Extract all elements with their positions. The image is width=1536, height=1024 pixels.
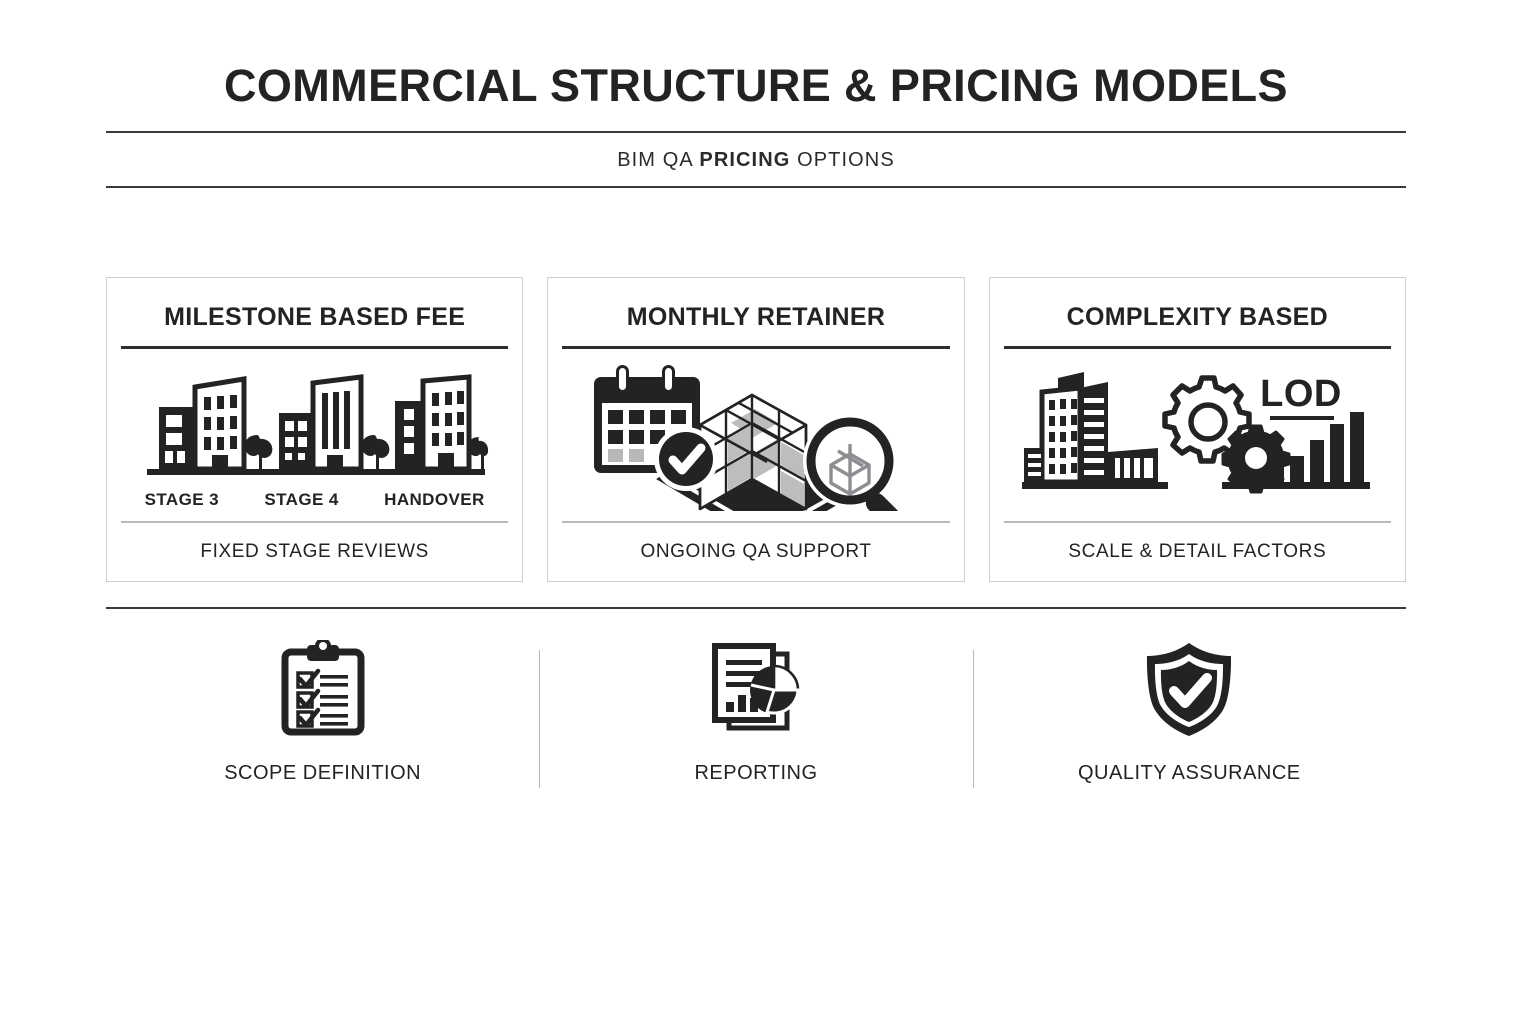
infographic-page: COMMERCIAL STRUCTURE & PRICING MODELS BI… — [0, 0, 1536, 1024]
stage-label-1: STAGE 3 — [145, 490, 219, 510]
card-illustration — [548, 349, 963, 521]
svg-text:LOD: LOD — [1260, 373, 1342, 415]
shield-check-icon — [1141, 640, 1237, 738]
stage-label-3: HANDOVER — [384, 490, 485, 510]
card-footer-label: FIXED STAGE REVIEWS — [107, 523, 522, 581]
feature-label: QUALITY ASSURANCE — [1078, 762, 1301, 785]
card-monthly-retainer[interactable]: MONTHLY RETAINER — [547, 277, 964, 582]
page-title: COMMERCIAL STRUCTURE & PRICING MODELS — [106, 62, 1406, 131]
card-illustration: LOD — [990, 349, 1405, 521]
pricing-model-cards: MILESTONE BASED FEE — [106, 277, 1406, 582]
card-title: COMPLEXITY BASED — [990, 278, 1405, 346]
card-title: MONTHLY RETAINER — [548, 278, 963, 346]
skyline-buildings-icon — [141, 363, 489, 481]
section-divider-rule — [106, 607, 1406, 609]
feature-scope-definition[interactable]: SCOPE DEFINITION — [106, 640, 539, 800]
subtitle-pre: BIM QA — [617, 149, 699, 171]
card-footer-label: ONGOING QA SUPPORT — [548, 523, 963, 581]
stage-labels: STAGE 3 STAGE 4 HANDOVER — [145, 490, 485, 510]
feature-label: REPORTING — [694, 762, 817, 785]
stage-label-2: STAGE 4 — [264, 490, 338, 510]
report-documents-chart-icon — [707, 640, 805, 738]
card-footer-label: SCALE & DETAIL FACTORS — [990, 523, 1405, 581]
card-illustration: STAGE 3 STAGE 4 HANDOVER — [107, 349, 522, 521]
subtitle-post: OPTIONS — [790, 149, 894, 171]
calendar-check-bim-model-magnifier-icon — [582, 361, 930, 511]
card-milestone-based-fee[interactable]: MILESTONE BASED FEE — [106, 277, 523, 582]
feature-quality-assurance[interactable]: QUALITY ASSURANCE — [973, 640, 1406, 800]
card-title: MILESTONE BASED FEE — [107, 278, 522, 346]
feature-label: SCOPE DEFINITION — [224, 762, 421, 785]
clipboard-checklist-icon — [277, 640, 369, 738]
card-complexity-based[interactable]: COMPLEXITY BASED — [989, 277, 1406, 582]
header: COMMERCIAL STRUCTURE & PRICING MODELS BI… — [106, 62, 1406, 188]
subtitle-bold: PRICING — [699, 149, 790, 171]
feature-row: SCOPE DEFINITION — [106, 640, 1406, 800]
highrise-gears-lod-chart-icon: LOD — [1022, 366, 1372, 506]
feature-reporting[interactable]: REPORTING — [539, 640, 972, 800]
subtitle: BIM QA PRICING OPTIONS — [106, 133, 1406, 186]
header-rule-bottom — [106, 186, 1406, 188]
